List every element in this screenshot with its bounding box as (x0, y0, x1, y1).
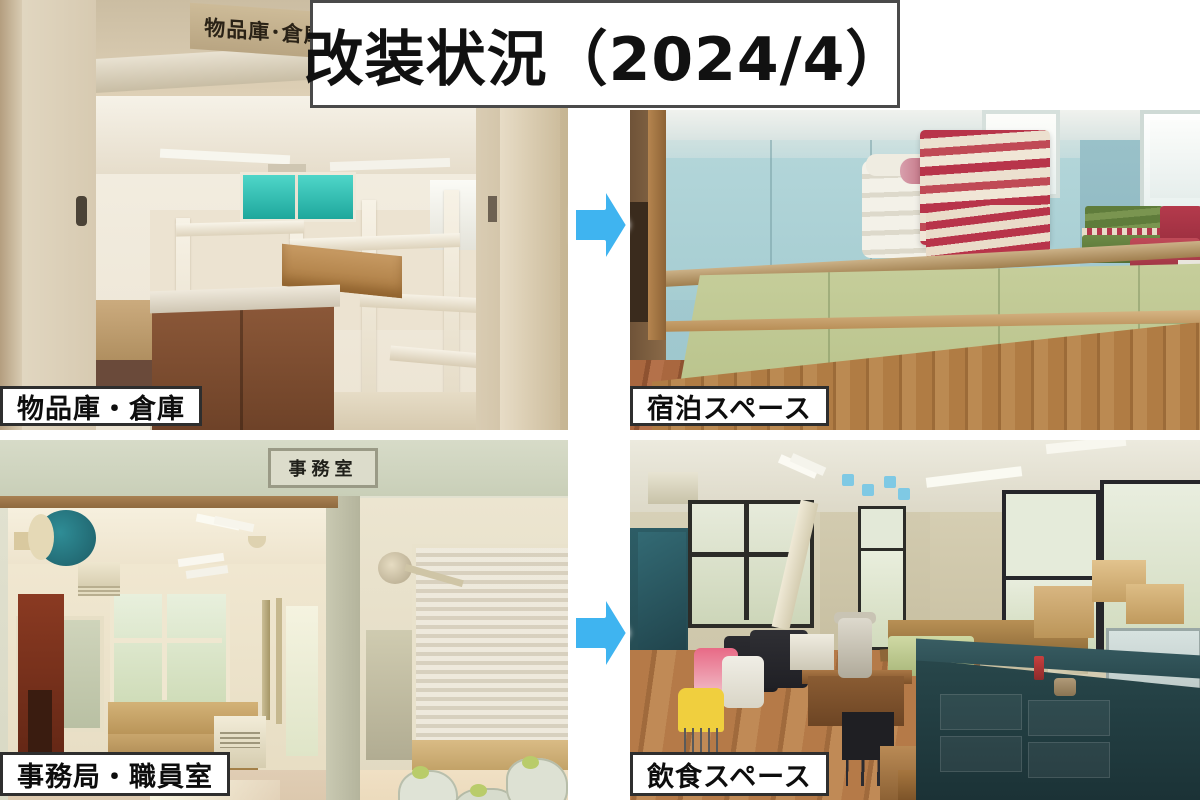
in-photo-sign-office: 事務室 (268, 448, 378, 488)
photo-scene-office: 事務室 (0, 440, 568, 800)
photo-panel-after-dining (630, 440, 1200, 800)
photo-panel-after-lodging (630, 110, 1200, 430)
caption-after-dining: 飲食スペース (630, 752, 829, 796)
caption-label: 事務局・職員室 (17, 755, 213, 794)
slide-canvas: 物品庫･倉庫 (0, 0, 1200, 800)
photo-scene-dining (630, 440, 1200, 800)
arrow-top (568, 178, 632, 272)
slide-title-box: 改装状況（2024/4） (310, 0, 900, 108)
caption-label: 物品庫・倉庫 (17, 387, 185, 426)
caption-after-lodging: 宿泊スペース (630, 386, 829, 426)
arrow-bottom (568, 586, 632, 680)
photo-scene-lodging (630, 110, 1200, 430)
caption-label: 飲食スペース (647, 755, 812, 794)
caption-before-storage: 物品庫・倉庫 (0, 386, 202, 426)
caption-label: 宿泊スペース (647, 387, 812, 426)
page-title: 改装状況（2024/4） (304, 11, 907, 98)
photo-panel-before-office: 事務室 (0, 440, 568, 800)
caption-before-office: 事務局・職員室 (0, 752, 230, 796)
in-photo-sign-text-office: 事務室 (289, 455, 358, 481)
